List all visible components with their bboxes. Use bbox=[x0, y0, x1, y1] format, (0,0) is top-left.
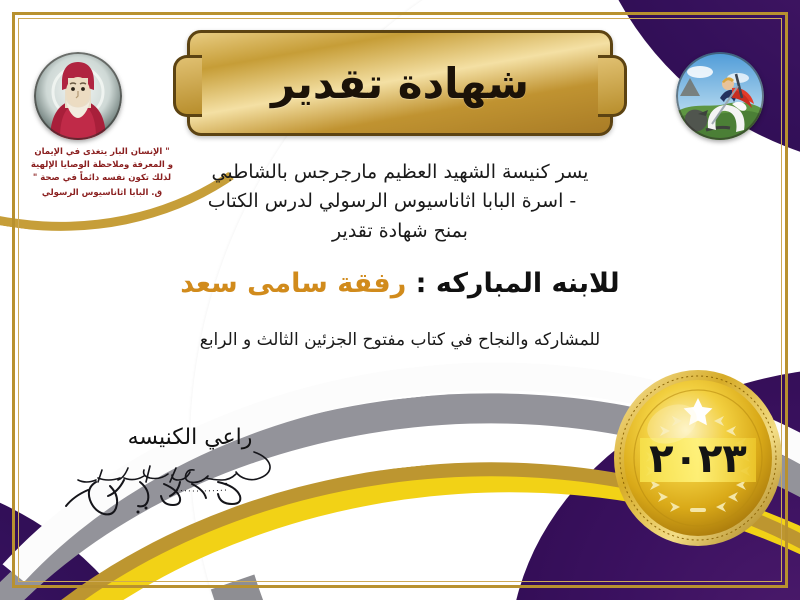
certificate-canvas: شهادة تقدير bbox=[0, 0, 800, 600]
quote-line-1: " الإنسان البار يتغذى في الإيمان bbox=[34, 147, 169, 157]
pope-athanasius-icon bbox=[34, 52, 122, 140]
saint-george-dragon-icon bbox=[676, 52, 764, 140]
body-line-1: يسر كنيسة الشهيد العظيم مارجرجس بالشاطبي bbox=[0, 158, 800, 187]
title-plaque: شهادة تقدير bbox=[187, 30, 613, 136]
recipient-line: للابنه المباركه : رفقة سامى سعد bbox=[0, 268, 800, 299]
certificate-title: شهادة تقدير bbox=[190, 33, 610, 133]
recipient-name: رفقة سامى سعد bbox=[180, 268, 406, 299]
recipient-label: للابنه المباركه : bbox=[406, 268, 619, 299]
body-line-2: - اسرة البابا اثاناسيوس الرسولي لدرس الك… bbox=[0, 187, 800, 216]
year-seal: ٢٠٢٣ bbox=[610, 368, 786, 548]
body-line-3: بمنح شهادة تقدير bbox=[0, 217, 800, 246]
achievement-text: للمشاركه والنجاح في كتاب مفتوح الجزئين ا… bbox=[0, 330, 800, 350]
certificate-body: يسر كنيسة الشهيد العظيم مارجرجس بالشاطبي… bbox=[0, 158, 800, 246]
signature-block: راعي الكنيسه bbox=[40, 425, 340, 518]
handwritten-signature-icon bbox=[40, 446, 340, 518]
